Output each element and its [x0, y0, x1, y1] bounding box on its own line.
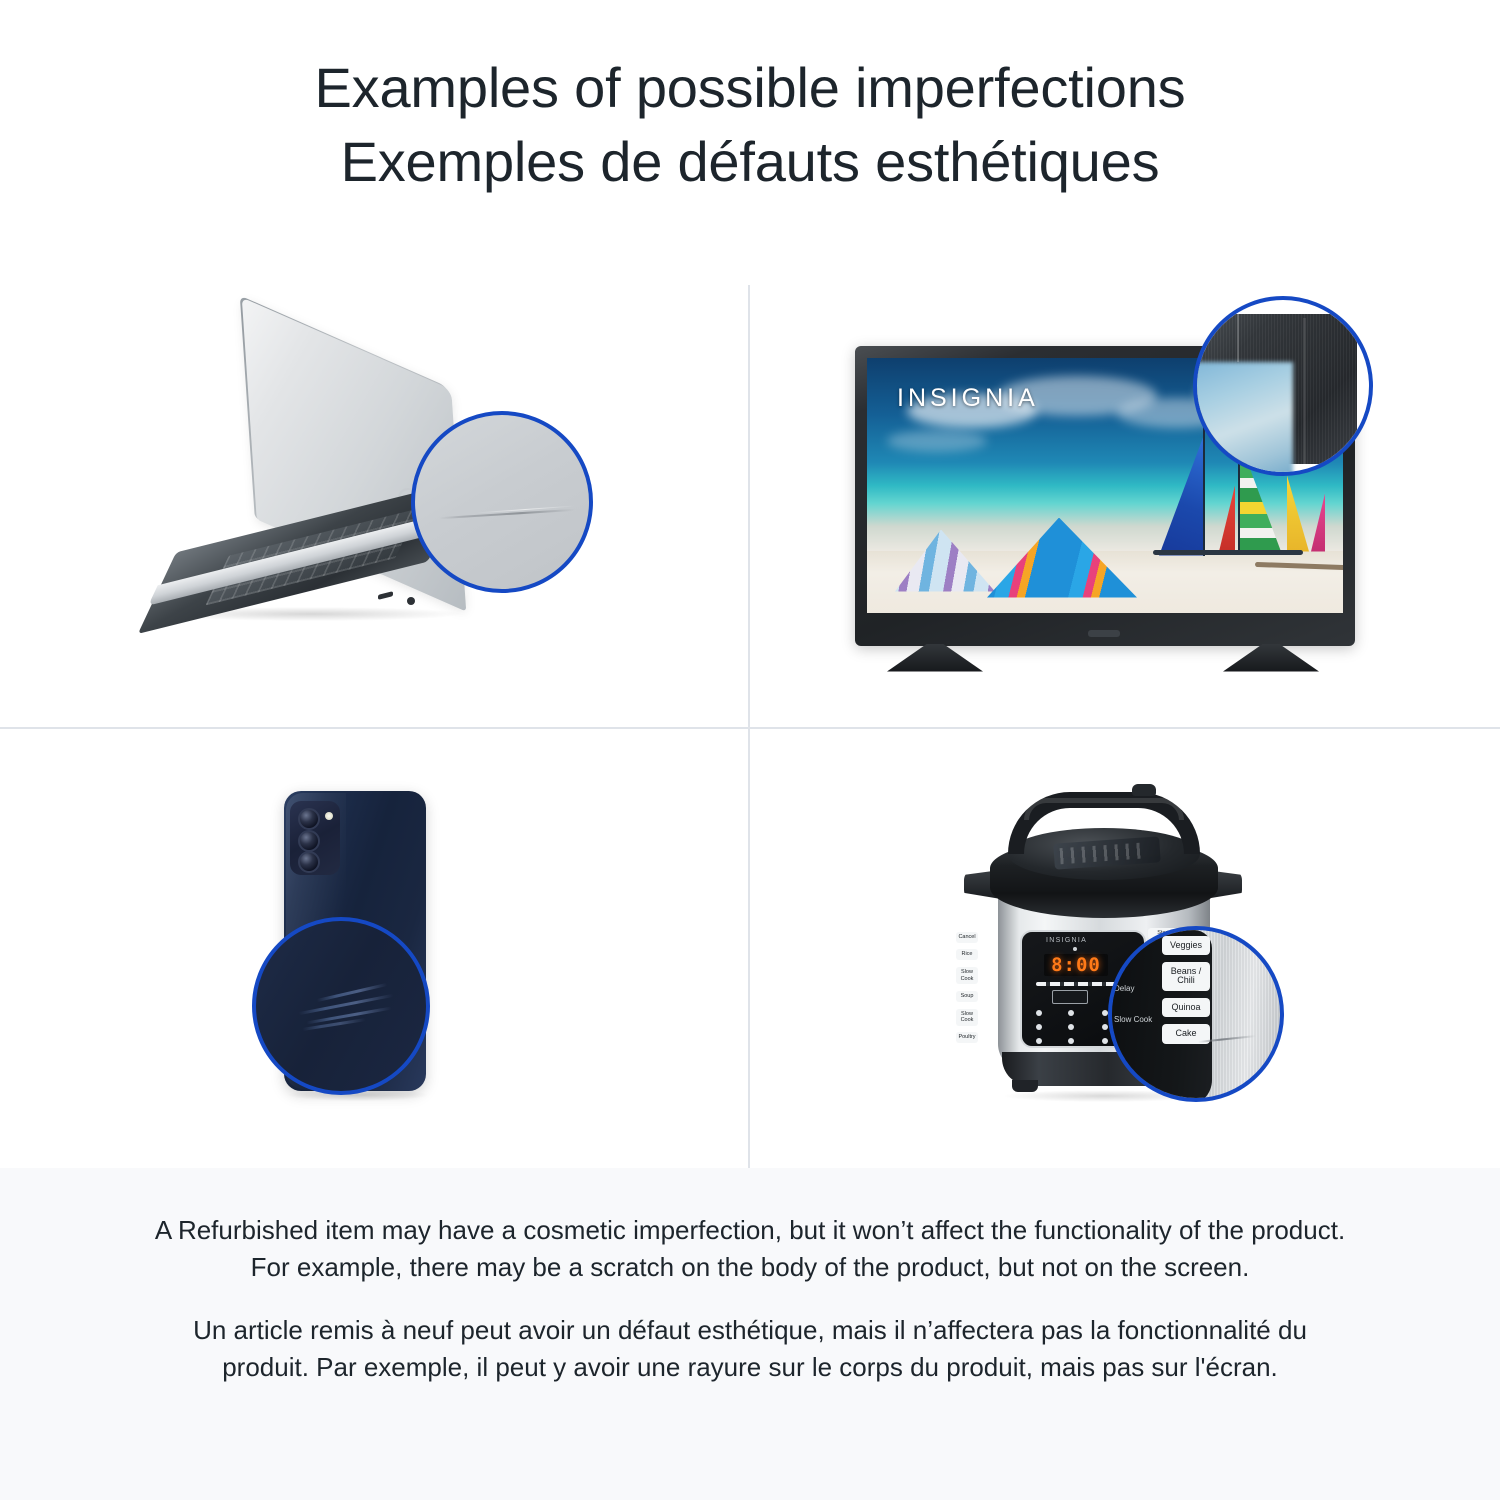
smartphone-illustration [224, 779, 524, 1119]
cooker-status-led [1073, 947, 1077, 951]
cooker-lid-handle-highlight [1024, 798, 1184, 820]
cooker-sub-display [1052, 990, 1088, 1004]
cooker-magnified-button-column: Veggies Beans / Chili Quinoa Cake [1162, 936, 1210, 1102]
magnifier-circle-smartphone [252, 917, 430, 1095]
cooker-button[interactable]: Poultry [956, 1032, 978, 1043]
infographic-page: Examples of possible imperfections Exemp… [0, 0, 1500, 1500]
cooker-pressure-indicator-bar [1036, 982, 1116, 986]
quadrant-laptop [0, 250, 748, 727]
cooker-mini-button[interactable] [1036, 1038, 1042, 1044]
phone-camera-module [290, 801, 340, 875]
camera-lens-icon [298, 808, 320, 830]
product-examples-grid: INSIGNIA [0, 250, 1500, 1168]
television-illustration: INSIGNIA [845, 304, 1405, 674]
cooker-mini-button[interactable] [1102, 1024, 1108, 1030]
cooker-mini-button[interactable] [1102, 1038, 1108, 1044]
camera-lens-icon [298, 830, 320, 852]
cooker-foot [1012, 1080, 1038, 1092]
quadrant-smartphone [0, 729, 748, 1168]
cooker-brand-label: INSIGNIA [1046, 937, 1087, 944]
cooker-mini-button[interactable] [1068, 1024, 1074, 1030]
page-footer: A Refurbished item may have a cosmetic i… [0, 1168, 1500, 1500]
tv-stand-left [887, 644, 983, 672]
cooker-digital-display: 8:00 [1044, 954, 1108, 976]
cooker-left-button-strip: Cancel Rice Slow Cook Soup Slow Cook Pou… [956, 932, 978, 1044]
tv-sail-yellow [1287, 476, 1309, 552]
tv-brand-logo: INSIGNIA [897, 384, 1039, 413]
cooker-button[interactable]: Slow Cook [956, 1009, 978, 1026]
tv-magnified-screen-edge [1193, 362, 1293, 476]
cooker-magnified-button[interactable]: Beans / Chili [1162, 962, 1210, 991]
page-title-en: Examples of possible imperfections [315, 51, 1186, 125]
footer-paragraph-en: A Refurbished item may have a cosmetic i… [150, 1212, 1350, 1286]
magnifier-circle-television [1193, 296, 1373, 476]
tv-stand-right [1223, 644, 1319, 672]
tv-bottom-logo-icon [1088, 630, 1120, 637]
cooker-magnified-left-labels: Delay Slow Cook [1114, 984, 1154, 1024]
cooker-button[interactable]: Slow Cook [956, 967, 978, 984]
tv-sail-pink [1311, 494, 1325, 552]
cooker-button[interactable]: Rice [956, 949, 978, 960]
cooker-mini-button[interactable] [1068, 1038, 1074, 1044]
magnifier-circle-laptop [411, 411, 593, 593]
cooker-magnified-label: Delay [1114, 984, 1154, 993]
pressure-cooker-illustration: Cancel Rice Slow Cook Soup Slow Cook Pou… [950, 774, 1300, 1124]
laptop-illustration [139, 339, 609, 639]
laptop-audio-jack-icon [407, 597, 415, 605]
camera-lens-icon [298, 851, 320, 873]
tv-cloud [887, 430, 987, 452]
tv-sail-red [1219, 486, 1235, 552]
page-title-fr: Exemples de défauts esthétiques [341, 125, 1160, 199]
tv-magnified-seam-defect [1237, 314, 1239, 362]
camera-flash-icon [325, 812, 333, 820]
cooker-mini-button[interactable] [1068, 1010, 1074, 1016]
page-header: Examples of possible imperfections Exemp… [0, 0, 1500, 250]
cooker-steam-release-knob[interactable] [1132, 784, 1156, 796]
quadrant-television: INSIGNIA [750, 250, 1500, 727]
footer-paragraph-fr: Un article remis à neuf peut avoir un dé… [150, 1312, 1350, 1386]
cooker-magnified-button[interactable]: Veggies [1162, 936, 1210, 955]
quadrant-pressure-cooker: Cancel Rice Slow Cook Soup Slow Cook Pou… [750, 729, 1500, 1168]
cooker-mini-button[interactable] [1036, 1024, 1042, 1030]
magnifier-circle-pressure-cooker: Delay Slow Cook Veggies Beans / Chili Qu… [1108, 926, 1284, 1102]
cooker-button[interactable]: Cancel [956, 932, 978, 943]
cooker-magnified-label: Slow Cook [1114, 1015, 1154, 1024]
cooker-mini-button[interactable] [1036, 1010, 1042, 1016]
tv-boat-hull [1153, 550, 1303, 555]
cooker-magnified-button[interactable]: Quinoa [1162, 998, 1210, 1017]
laptop-usb-port-icon [378, 591, 393, 600]
cooker-button[interactable]: Soup [956, 991, 978, 1002]
